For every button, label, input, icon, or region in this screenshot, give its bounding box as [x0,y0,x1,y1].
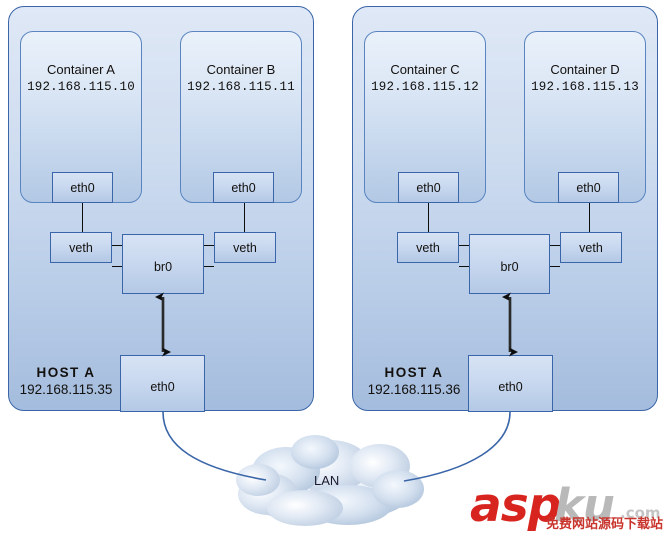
host-left-eth0-label: eth0 [150,380,174,394]
veth-label-d: veth [579,241,603,255]
host-ip-right: 192.168.115.36 [360,381,468,398]
host-right-eth0-label: eth0 [498,380,522,394]
container-ip-a: 192.168.115.10 [14,79,148,95]
host-caption-left: HOST A 192.168.115.35 [12,364,120,398]
link-eth0-veth-a [82,203,83,232]
link-veth-br0-b [203,245,214,267]
link-eth0-veth-c [428,203,429,232]
veth-box-c: veth [397,232,459,263]
host-name-right: HOST A [360,364,468,381]
container-label-b: Container B [180,62,302,78]
container-ip-d: 192.168.115.13 [518,79,652,95]
container-b-eth0-box: eth0 [213,172,274,203]
bridge-box-left: br0 [122,234,204,294]
host-left-eth0-box: eth0 [120,355,205,412]
container-a-eth0-box: eth0 [52,172,113,203]
veth-label-c: veth [416,241,440,255]
veth-box-b: veth [214,232,276,263]
host-right-eth0-box: eth0 [468,355,553,412]
network-diagram-canvas: Container A 192.168.115.10 Container B 1… [0,0,670,541]
bridge-label-left: br0 [154,260,172,274]
cable-left-to-lan [163,412,266,480]
container-label-a: Container A [20,62,142,78]
container-b-eth0-label: eth0 [231,181,255,195]
veth-box-d: veth [560,232,622,263]
link-veth-br0-d [549,245,560,267]
host-ip-left: 192.168.115.35 [12,381,120,398]
container-c-eth0-box: eth0 [398,172,459,203]
container-label-c: Container C [364,62,486,78]
container-ip-c: 192.168.115.12 [358,79,492,95]
bridge-label-right: br0 [500,260,518,274]
veth-label-b: veth [233,241,257,255]
container-d-eth0-box: eth0 [558,172,619,203]
container-label-d: Container D [524,62,646,78]
watermark-tagline: 免费网站源码下载站 [546,518,663,532]
container-ip-b: 192.168.115.11 [174,79,308,95]
watermark: asp ku .com 免费网站源码下载站 [470,482,666,538]
container-d-eth0-label: eth0 [576,181,600,195]
bridge-box-right: br0 [469,234,550,294]
host-name-left: HOST A [12,364,120,381]
container-c-eth0-label: eth0 [416,181,440,195]
veth-label-a: veth [69,241,93,255]
cable-right-to-lan [404,412,510,481]
lan-label: LAN [314,473,339,488]
link-eth0-veth-b [244,203,245,232]
container-a-eth0-label: eth0 [70,181,94,195]
host-caption-right: HOST A 192.168.115.36 [360,364,468,398]
link-eth0-veth-d [589,203,590,232]
veth-box-a: veth [50,232,112,263]
